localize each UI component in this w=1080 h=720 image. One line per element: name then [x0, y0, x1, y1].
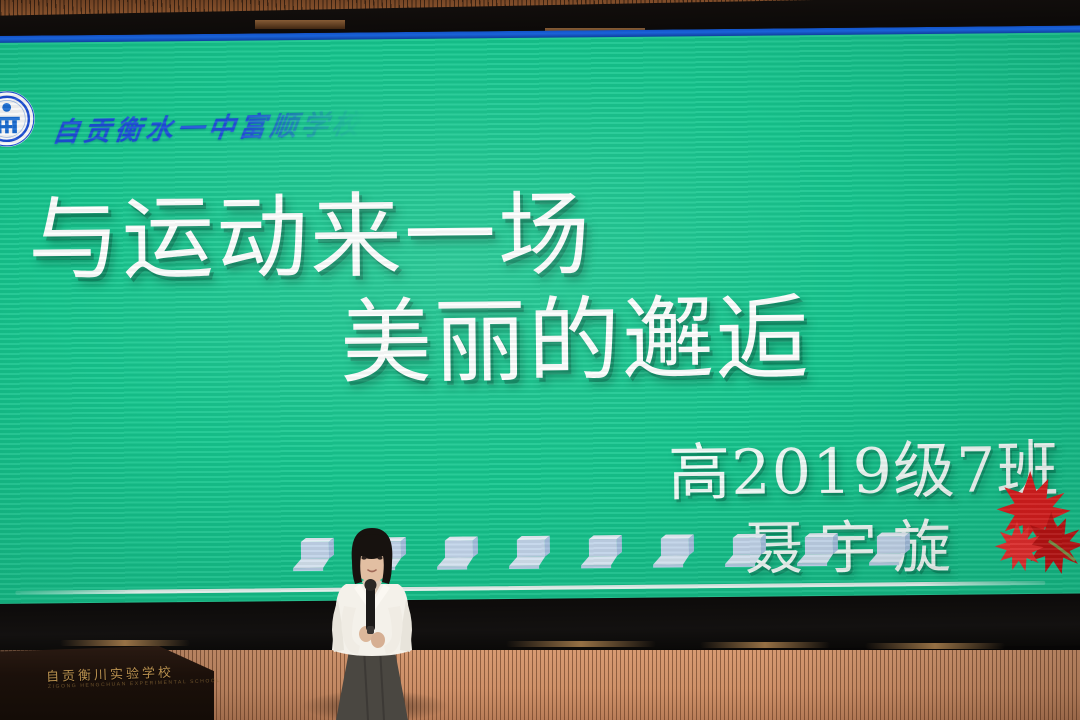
school-name-header: 自贡衡水一中富顺学校	[50, 102, 366, 149]
led-screen-surface: 自贡衡水一中富顺学校 与运动来一场 美丽的邂逅 高2019级7班 聂宇旋	[0, 32, 1080, 608]
laptop-computer-icon	[865, 532, 911, 572]
maple-leaf-decoration	[978, 464, 1080, 583]
stage-under-light-3	[700, 642, 830, 648]
laptop-computer-icon	[505, 536, 551, 576]
school-crest-logo	[0, 89, 37, 150]
stage-under-light-4	[865, 643, 1005, 649]
laptop-computer-icon	[721, 534, 767, 574]
stage-under-light-2	[506, 641, 656, 647]
ceiling-light-gap-1	[255, 20, 345, 29]
laptop-computer-icon	[793, 533, 839, 573]
slide-title-line-2: 美丽的邂逅	[340, 293, 811, 390]
stage-under-light-1	[60, 640, 190, 646]
laptop-icon-row	[0, 520, 1080, 581]
laptop-computer-icon	[649, 534, 695, 574]
student-speaker	[316, 528, 428, 720]
laptop-computer-icon	[433, 536, 479, 576]
laptop-computer-icon	[577, 535, 623, 575]
led-screen: 自贡衡水一中富顺学校 与运动来一场 美丽的邂逅 高2019级7班 聂宇旋	[0, 25, 1080, 613]
presentation-stage-photo: 自贡衡水一中富顺学校 与运动来一场 美丽的邂逅 高2019级7班 聂宇旋	[0, 0, 1080, 720]
slide-bottom-rule	[15, 581, 1045, 595]
slide-title-line-1: 与运动来一场	[28, 189, 593, 286]
